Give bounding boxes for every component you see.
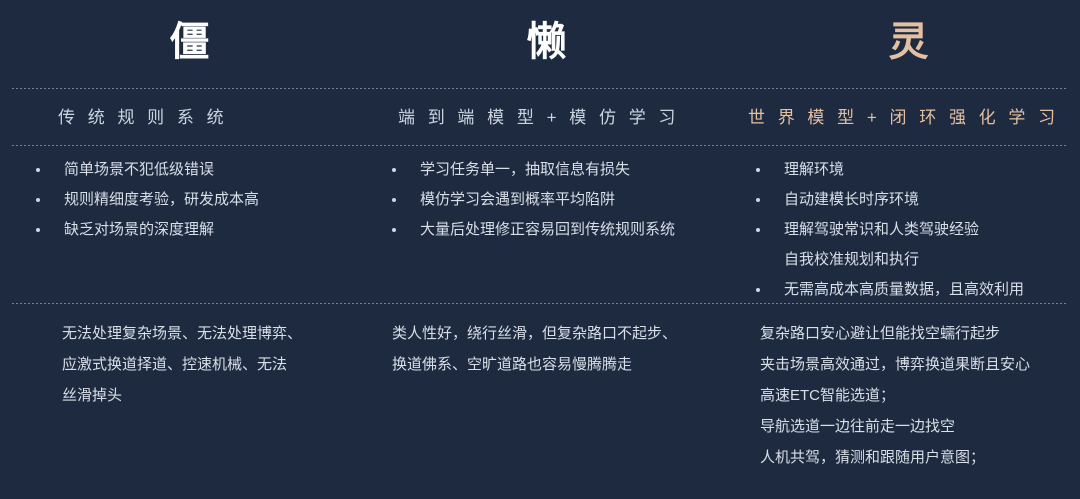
list-item: 规则精细度考验，研发成本高 (20, 185, 360, 215)
column-1-headline: 僵 (20, 14, 360, 70)
summary-line: 丝滑掉头 (62, 380, 360, 411)
summary-line: 换道佛系、空旷道路也容易慢腾腾走 (392, 349, 720, 380)
column-3-bullet-list: 理解环境 自动建模长时序环境 理解驾驶常识和人类驾驶经验 自我校准规划和执行 无… (738, 155, 1080, 305)
column-3-headline: 灵 (738, 14, 1080, 70)
list-item-label: 学习任务单一，抽取信息有损失 (420, 161, 630, 178)
summary-line: 导航选道一边往前走一边找空 (760, 411, 1080, 442)
column-1-bullets-cell: 简单场景不犯低级错误 规则精细度考验，研发成本高 缺乏对场景的深度理解 (0, 155, 360, 305)
column-3-bullets-cell: 理解环境 自动建模长时序环境 理解驾驶常识和人类驾驶经验 自我校准规划和执行 无… (720, 155, 1080, 305)
summary-line: 类人性好，绕行丝滑，但复杂路口不起步、 (392, 318, 720, 349)
bullet-dot-icon (756, 288, 760, 292)
list-item-label: 自动建模长时序环境 (784, 191, 919, 208)
column-2-headline-cell: 懒 (360, 14, 720, 70)
divider-middle (12, 145, 1068, 146)
list-item: 理解驾驶常识和人类驾驶经验 (738, 215, 1080, 245)
slide-root: 僵 懒 灵 传 统 规 则 系 统 端 到 端 模 型 + 模 仿 学 习 世 … (0, 0, 1080, 499)
bullet-dot-icon (756, 168, 760, 172)
list-item-label: 无需高成本高质量数据，且高效利用 (784, 281, 1024, 298)
list-item-label: 理解驾驶常识和人类驾驶经验 (784, 221, 979, 238)
column-3-headline-cell: 灵 (720, 14, 1080, 70)
column-1-headline-cell: 僵 (0, 14, 360, 70)
summary-line: 复杂路口安心避让但能找空蠕行起步 (760, 318, 1080, 349)
bullet-dot-icon (392, 168, 396, 172)
list-item: 理解环境 (738, 155, 1080, 185)
column-2-summary: 类人性好，绕行丝滑，但复杂路口不起步、 换道佛系、空旷道路也容易慢腾腾走 (374, 318, 720, 380)
list-item-label: 模仿学习会遇到概率平均陷阱 (420, 191, 615, 208)
column-1-summary: 无法处理复杂场景、无法处理博弈、 应激式换道择道、控速机械、无法 丝滑掉头 (20, 318, 360, 411)
list-item: 模仿学习会遇到概率平均陷阱 (374, 185, 720, 215)
column-2-bullet-list: 学习任务单一，抽取信息有损失 模仿学习会遇到概率平均陷阱 大量后处理修正容易回到… (374, 155, 720, 245)
column-2-headline: 懒 (374, 14, 720, 70)
column-2-subtitle: 端 到 端 模 型 + 模 仿 学 习 (374, 104, 720, 132)
list-item: 学习任务单一，抽取信息有损失 (374, 155, 720, 185)
summary-line: 应激式换道择道、控速机械、无法 (62, 349, 360, 380)
list-item-label: 理解环境 (784, 161, 844, 178)
list-item: 简单场景不犯低级错误 (20, 155, 360, 185)
list-item-label: 规则精细度考验，研发成本高 (64, 191, 259, 208)
list-item-label: 缺乏对场景的深度理解 (64, 221, 214, 238)
headline-row: 僵 懒 灵 (0, 14, 1080, 70)
list-item-label: 简单场景不犯低级错误 (64, 161, 214, 178)
column-3-subtitle-cell: 世 界 模 型 + 闭 环 强 化 学 习 (720, 104, 1080, 132)
divider-top (12, 88, 1068, 89)
column-1-subtitle-cell: 传 统 规 则 系 统 (0, 104, 360, 132)
divider-bottom (12, 303, 1068, 304)
column-3-summary: 复杂路口安心避让但能找空蠕行起步 夹击场景高效通过，博弈换道果断且安心 高速ET… (738, 318, 1080, 473)
column-3-summary-cell: 复杂路口安心避让但能找空蠕行起步 夹击场景高效通过，博弈换道果断且安心 高速ET… (720, 318, 1080, 473)
column-1-subtitle: 传 统 规 则 系 统 (20, 104, 360, 132)
column-2-summary-cell: 类人性好，绕行丝滑，但复杂路口不起步、 换道佛系、空旷道路也容易慢腾腾走 (360, 318, 720, 473)
summary-line: 人机共驾，猜测和跟随用户意图； (760, 442, 1080, 473)
summary-line: 无法处理复杂场景、无法处理博弈、 (62, 318, 360, 349)
column-1-summary-cell: 无法处理复杂场景、无法处理博弈、 应激式换道择道、控速机械、无法 丝滑掉头 (0, 318, 360, 473)
column-3-subtitle: 世 界 模 型 + 闭 环 强 化 学 习 (738, 104, 1080, 132)
column-2-bullets-cell: 学习任务单一，抽取信息有损失 模仿学习会遇到概率平均陷阱 大量后处理修正容易回到… (360, 155, 720, 305)
summary-row: 无法处理复杂场景、无法处理博弈、 应激式换道择道、控速机械、无法 丝滑掉头 类人… (0, 318, 1080, 473)
bullet-dot-icon (392, 198, 396, 202)
list-item-continuation: 自我校准规划和执行 (738, 245, 1080, 275)
list-item-label: 自我校准规划和执行 (784, 251, 919, 268)
bullets-row: 简单场景不犯低级错误 规则精细度考验，研发成本高 缺乏对场景的深度理解 学习任务… (0, 155, 1080, 305)
list-item: 缺乏对场景的深度理解 (20, 215, 360, 245)
list-item-label: 大量后处理修正容易回到传统规则系统 (420, 221, 675, 238)
bullet-dot-icon (36, 198, 40, 202)
bullet-dot-icon (756, 228, 760, 232)
list-item: 自动建模长时序环境 (738, 185, 1080, 215)
column-2-subtitle-cell: 端 到 端 模 型 + 模 仿 学 习 (360, 104, 720, 132)
list-item: 无需高成本高质量数据，且高效利用 (738, 275, 1080, 305)
bullet-dot-icon (756, 198, 760, 202)
subtitle-row: 传 统 规 则 系 统 端 到 端 模 型 + 模 仿 学 习 世 界 模 型 … (0, 104, 1080, 132)
column-1-bullet-list: 简单场景不犯低级错误 规则精细度考验，研发成本高 缺乏对场景的深度理解 (20, 155, 360, 245)
list-item: 大量后处理修正容易回到传统规则系统 (374, 215, 720, 245)
summary-line: 高速ETC智能选道； (760, 380, 1080, 411)
bullet-dot-icon (36, 168, 40, 172)
summary-line: 夹击场景高效通过，博弈换道果断且安心 (760, 349, 1080, 380)
bullet-dot-icon (392, 228, 396, 232)
bullet-dot-icon (36, 228, 40, 232)
